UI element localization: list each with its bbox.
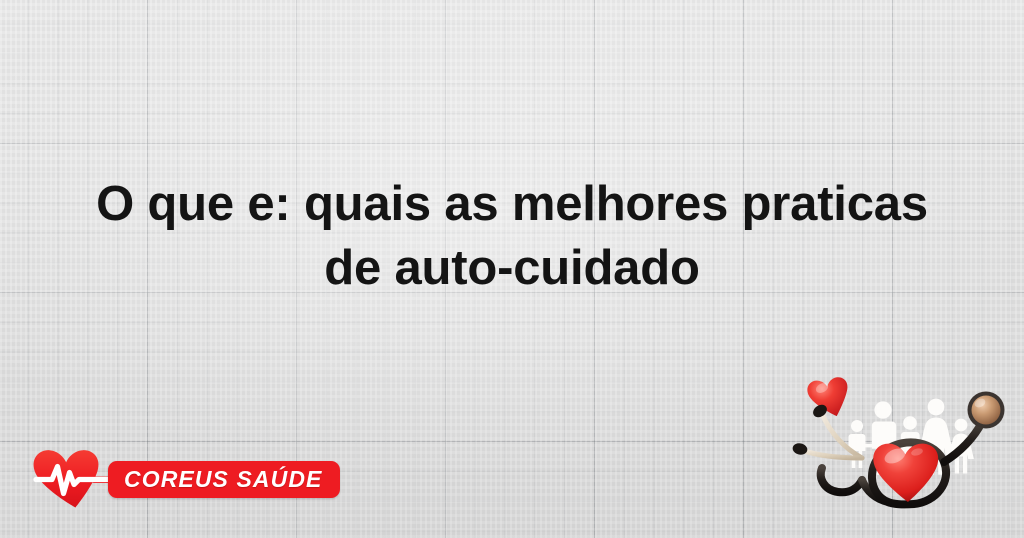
brand-name-badge: COREUS SAÚDE [108,461,340,498]
banner-canvas: O que e: quais as melhores praticas de a… [0,0,1024,538]
page-title-line-1: O que e: quais as melhores praticas [34,172,990,236]
family-health-stethoscope-illustration [784,352,1024,538]
stethoscope-chestpiece [968,392,1005,429]
brand-logo[interactable]: COREUS SAÚDE [30,448,340,510]
page-title: O que e: quais as melhores praticas de a… [0,172,1024,300]
illustration-svg [784,352,1024,538]
page-title-line-2: de auto-cuidado [34,236,990,300]
brand-name-label: COREUS SAÚDE [124,466,323,493]
small-heart-icon [806,376,851,420]
